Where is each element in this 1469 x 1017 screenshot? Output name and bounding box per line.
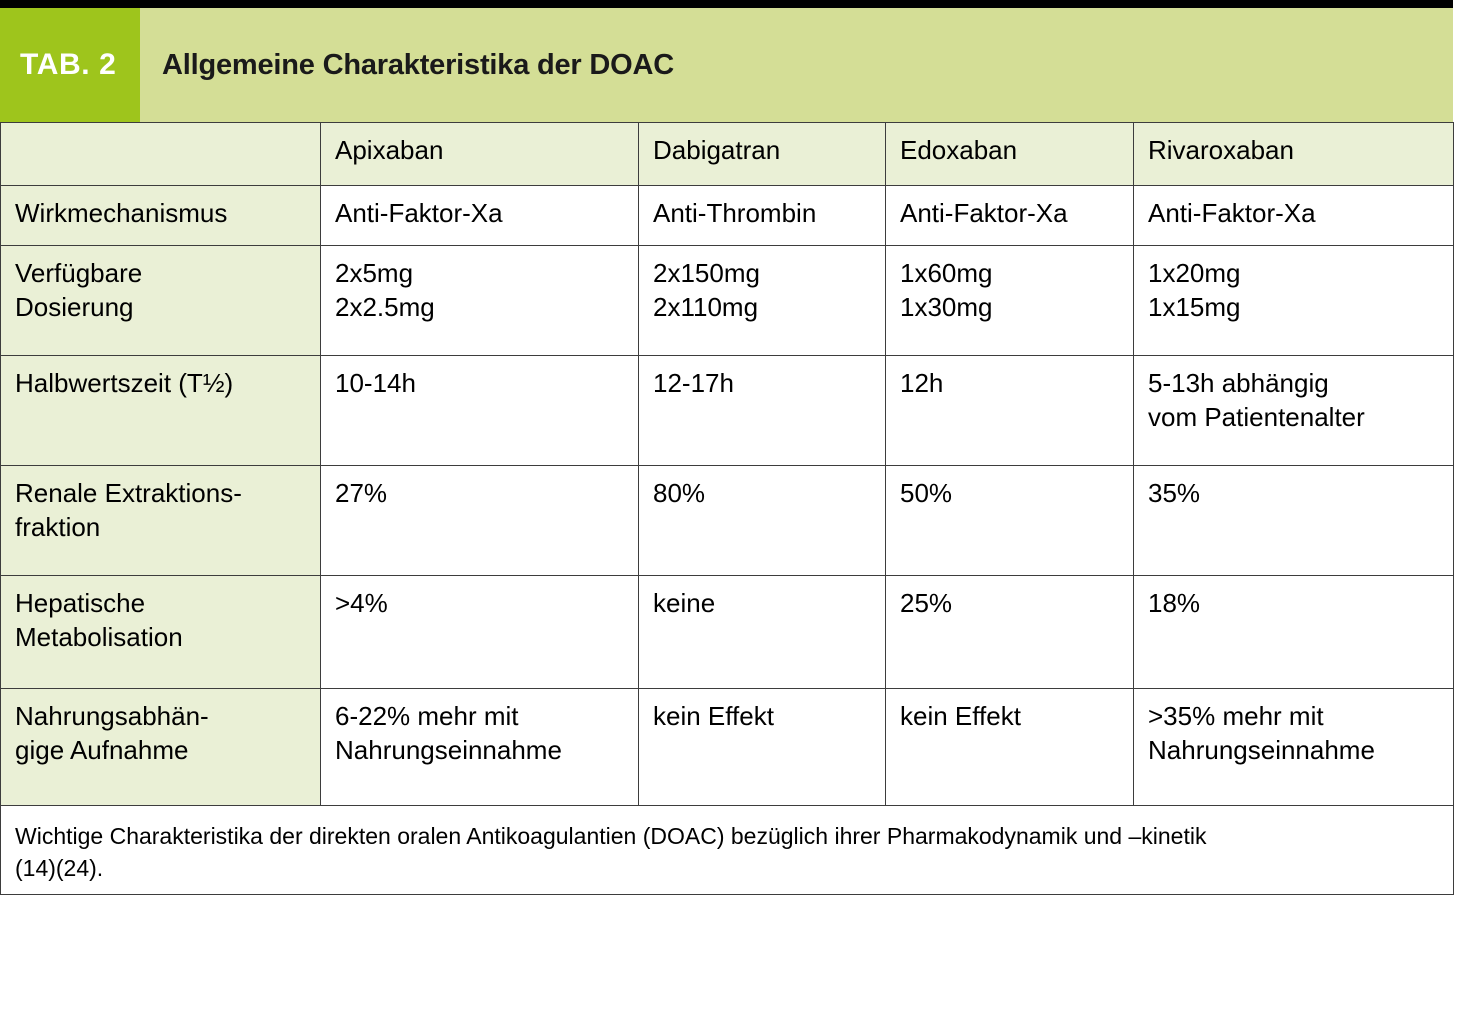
cell-nahrung-apixaban: 6-22% mehr mitNahrungseinnahme <box>321 689 639 806</box>
cell-lines: kein Effekt <box>653 699 871 733</box>
doac-characteristics-table: Apixaban Dabigatran Edoxaban Rivaroxaban… <box>0 122 1454 895</box>
cell-lines: 80% <box>653 476 871 510</box>
row-header-lines: HepatischeMetabolisation <box>15 586 306 655</box>
cell-lines: 6-22% mehr mitNahrungseinnahme <box>335 699 624 768</box>
cell-lines: 1x20mg1x15mg <box>1148 256 1439 325</box>
column-header-corner <box>1 123 321 186</box>
cell-nahrung-edoxaban: kein Effekt <box>886 689 1134 806</box>
row-header-halbwertszeit: Halbwertszeit (T½) <box>1 356 321 466</box>
column-header-dabigatran: Dabigatran <box>639 123 886 186</box>
cell-lines: 50% <box>900 476 1119 510</box>
table-row: Halbwertszeit (T½) 10-14h 12-17h 12h 5-1… <box>1 356 1454 466</box>
column-header-apixaban: Apixaban <box>321 123 639 186</box>
row-header-lines: Nahrungsabhän-gige Aufnahme <box>15 699 306 768</box>
cell-halbwertszeit-dabigatran: 12-17h <box>639 356 886 466</box>
table-footnote-row: Wichtige Charakteristika der direkten or… <box>1 806 1454 895</box>
table-title-container: Allgemeine Charakteristika der DOAC <box>140 8 1453 122</box>
column-header-edoxaban: Edoxaban <box>886 123 1134 186</box>
cell-lines: 2x150mg2x110mg <box>653 256 871 325</box>
cell-dosierung-edoxaban: 1x60mg1x30mg <box>886 246 1134 356</box>
cell-wirkmechanismus-edoxaban: Anti-Faktor-Xa <box>886 186 1134 246</box>
footnote-lines: Wichtige Charakteristika der direkten or… <box>15 820 1439 884</box>
table-row: Renale Extraktions-fraktion 27% 80% 50% … <box>1 466 1454 576</box>
cell-lines: Anti-Faktor-Xa <box>1148 196 1439 230</box>
cell-renale-apixaban: 27% <box>321 466 639 576</box>
row-header-lines: Halbwertszeit (T½) <box>15 366 306 400</box>
cell-lines: 2x5mg2x2.5mg <box>335 256 624 325</box>
row-header-renale-extraktionsfraktion: Renale Extraktions-fraktion <box>1 466 321 576</box>
cell-renale-dabigatran: 80% <box>639 466 886 576</box>
cell-lines: 27% <box>335 476 624 510</box>
cell-lines: 12-17h <box>653 366 871 400</box>
cell-lines: 5-13h abhängigvom Patientenalter <box>1148 366 1439 435</box>
cell-lines: Anti-Thrombin <box>653 196 871 230</box>
table-header-row-group: Apixaban Dabigatran Edoxaban Rivaroxaban <box>1 123 1454 186</box>
cell-dosierung-dabigatran: 2x150mg2x110mg <box>639 246 886 356</box>
table-row: Wirkmechanismus Anti-Faktor-Xa Anti-Thro… <box>1 186 1454 246</box>
row-header-lines: Renale Extraktions-fraktion <box>15 476 306 545</box>
cell-lines: 10-14h <box>335 366 624 400</box>
row-header-wirkmechanismus: Wirkmechanismus <box>1 186 321 246</box>
row-header-lines: Wirkmechanismus <box>15 196 306 230</box>
table-figure-page: TAB. 2 Allgemeine Charakteristika der DO… <box>0 0 1469 1017</box>
cell-hepatische-edoxaban: 25% <box>886 576 1134 689</box>
table-row: VerfügbareDosierung 2x5mg2x2.5mg 2x150mg… <box>1 246 1454 356</box>
cell-lines: 25% <box>900 586 1119 620</box>
table-row: Nahrungsabhän-gige Aufnahme 6-22% mehr m… <box>1 689 1454 806</box>
top-rule-divider <box>0 0 1453 8</box>
cell-hepatische-dabigatran: keine <box>639 576 886 689</box>
cell-dosierung-apixaban: 2x5mg2x2.5mg <box>321 246 639 356</box>
table-header-row: Apixaban Dabigatran Edoxaban Rivaroxaban <box>1 123 1454 186</box>
cell-halbwertszeit-rivaroxaban: 5-13h abhängigvom Patientenalter <box>1134 356 1454 466</box>
table-number-badge: TAB. 2 <box>0 8 140 122</box>
cell-wirkmechanismus-rivaroxaban: Anti-Faktor-Xa <box>1134 186 1454 246</box>
cell-nahrung-rivaroxaban: >35% mehr mitNahrungseinnahme <box>1134 689 1454 806</box>
table-footnote: Wichtige Charakteristika der direkten or… <box>1 806 1454 895</box>
cell-halbwertszeit-apixaban: 10-14h <box>321 356 639 466</box>
cell-lines: Anti-Faktor-Xa <box>900 196 1119 230</box>
cell-lines: 1x60mg1x30mg <box>900 256 1119 325</box>
cell-halbwertszeit-edoxaban: 12h <box>886 356 1134 466</box>
cell-dosierung-rivaroxaban: 1x20mg1x15mg <box>1134 246 1454 356</box>
cell-renale-edoxaban: 50% <box>886 466 1134 576</box>
row-header-lines: VerfügbareDosierung <box>15 256 306 325</box>
table-header-band: TAB. 2 Allgemeine Charakteristika der DO… <box>0 8 1453 122</box>
cell-hepatische-rivaroxaban: 18% <box>1134 576 1454 689</box>
cell-lines: kein Effekt <box>900 699 1119 733</box>
cell-lines: >4% <box>335 586 624 620</box>
column-header-rivaroxaban: Rivaroxaban <box>1134 123 1454 186</box>
row-header-verfuegbare-dosierung: VerfügbareDosierung <box>1 246 321 356</box>
row-header-nahrungsabhaengige-aufnahme: Nahrungsabhän-gige Aufnahme <box>1 689 321 806</box>
cell-lines: 12h <box>900 366 1119 400</box>
cell-wirkmechanismus-apixaban: Anti-Faktor-Xa <box>321 186 639 246</box>
row-header-hepatische-metabolisation: HepatischeMetabolisation <box>1 576 321 689</box>
table-title: Allgemeine Charakteristika der DOAC <box>162 49 674 82</box>
cell-lines: 35% <box>1148 476 1439 510</box>
cell-lines: 18% <box>1148 586 1439 620</box>
cell-hepatische-apixaban: >4% <box>321 576 639 689</box>
cell-lines: >35% mehr mitNahrungseinnahme <box>1148 699 1439 768</box>
cell-nahrung-dabigatran: kein Effekt <box>639 689 886 806</box>
cell-lines: Anti-Faktor-Xa <box>335 196 624 230</box>
cell-lines: keine <box>653 586 871 620</box>
cell-renale-rivaroxaban: 35% <box>1134 466 1454 576</box>
table-body: Wirkmechanismus Anti-Faktor-Xa Anti-Thro… <box>1 186 1454 895</box>
cell-wirkmechanismus-dabigatran: Anti-Thrombin <box>639 186 886 246</box>
table-row: HepatischeMetabolisation >4% keine 25% 1… <box>1 576 1454 689</box>
table-number-label: TAB. 2 <box>20 48 116 82</box>
